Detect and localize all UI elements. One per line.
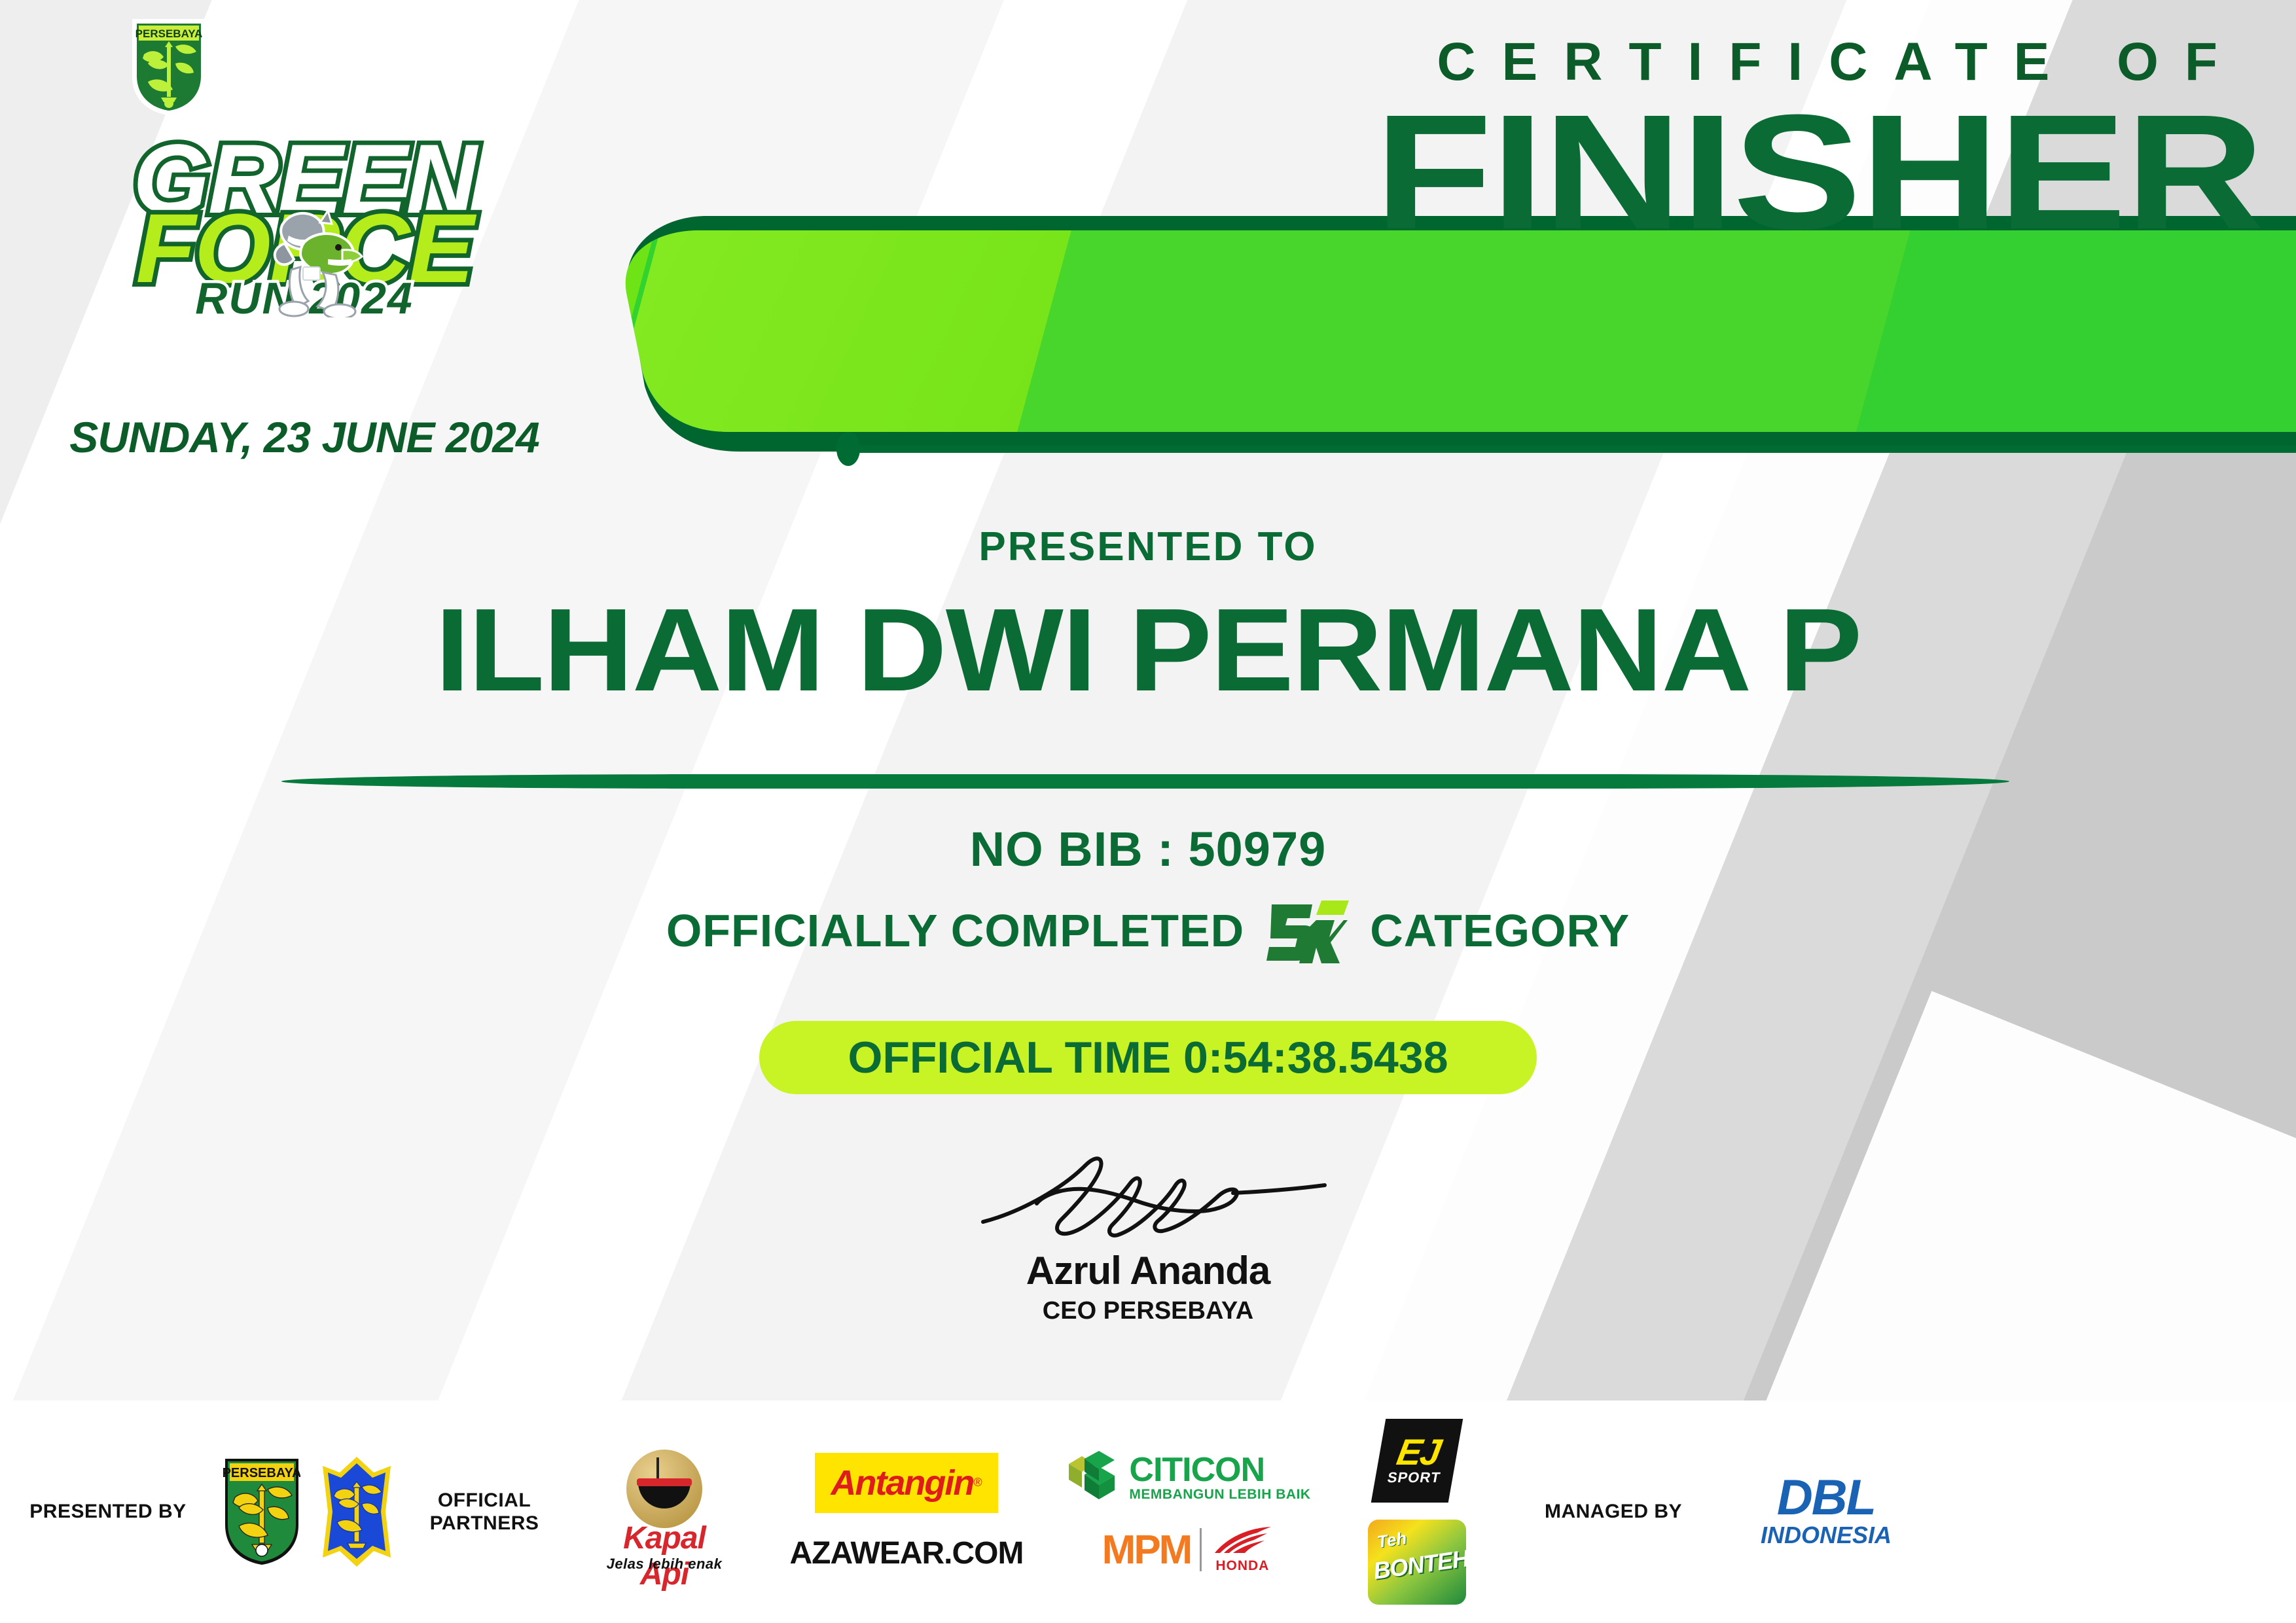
signature-block: Azrul Ananda CEO PERSEBAYA — [886, 1149, 1410, 1325]
sponsor-ej-sport-logo: EJ SPORT — [1371, 1419, 1463, 1503]
sponsor-persebaya-logo: PERSEBAYA — [216, 1457, 308, 1567]
sponsor-mpm-honda-logo: MPM HONDA — [1102, 1525, 1274, 1574]
official-partners-label: OFFICIAL PARTNERS — [406, 1489, 563, 1535]
sponsor-azawear-logo: AZAWEAR.COM — [790, 1535, 1024, 1571]
category-5k-icon — [1264, 897, 1350, 965]
official-time-badge: OFFICIAL TIME 0:54:38.5438 — [759, 1021, 1537, 1094]
event-date: SUNDAY, 23 JUNE 2024 — [39, 412, 569, 462]
bib-number-line: NO BIB : 50979 — [0, 821, 2296, 877]
sponsor-footer: PRESENTED BY PERSEBAYA — [0, 1400, 2296, 1623]
svg-text:PERSEBAYA: PERSEBAYA — [135, 27, 203, 40]
certificate-canvas: PERSEBAYA GREEN FORCE RUN 2024 — [0, 0, 2296, 1623]
sponsor-teh-bonteh-logo: Teh BONTEH — [1368, 1520, 1466, 1605]
signatory-name: Azrul Ananda — [886, 1248, 1410, 1293]
presented-by-label: PRESENTED BY — [0, 1500, 216, 1523]
signatory-role: CEO PERSEBAYA — [886, 1297, 1410, 1325]
completed-prefix-text: OFFICIALLY COMPLETED — [666, 904, 1244, 957]
citicon-cube-icon — [1065, 1450, 1120, 1506]
mpm-divider — [1200, 1528, 1202, 1571]
sponsor-antangin-azawear-group: Antangin® AZAWEAR.COM — [766, 1453, 1047, 1571]
completed-suffix-text: CATEGORY — [1370, 904, 1630, 957]
header-banner: PERSEBAYA GREEN FORCE RUN 2024 — [0, 0, 2296, 452]
finisher-title: FINISHER — [1374, 90, 2263, 254]
name-underline-divider — [281, 774, 2009, 789]
sponsor-dbl-indonesia-logo: DBL INDONESIA — [1721, 1474, 1931, 1549]
category-line: OFFICIALLY COMPLETED CATEGORY — [0, 897, 2296, 965]
sponsor-kapal-api-logo: Kapal Api Jelas lebih enak — [563, 1450, 766, 1574]
sponsor-surabaya-city-logo — [308, 1455, 406, 1568]
persebaya-shield-icon: PERSEBAYA — [130, 16, 208, 118]
sponsor-citicon-mpm-group: CITICON MEMBANGUN LEBIH BAIK MPM HONDA — [1047, 1450, 1329, 1574]
sponsor-ej-bonteh-group: EJ SPORT Teh BONTEH — [1329, 1419, 1505, 1605]
green-force-run-logo: GREEN FORCE RUN 2024 — [39, 134, 569, 298]
kapal-api-ship-icon — [626, 1450, 702, 1528]
honda-wing-icon — [1211, 1525, 1274, 1558]
official-time-text: OFFICIAL TIME 0:54:38.5438 — [848, 1032, 1448, 1083]
managed-by-label: MANAGED BY — [1505, 1500, 1721, 1523]
signature-image — [945, 1149, 1351, 1247]
sponsor-antangin-logo: Antangin® — [815, 1453, 998, 1513]
presented-to-label: PRESENTED TO — [0, 524, 2296, 570]
recipient-name: ILHAM DWI PERMANA P — [0, 582, 2296, 718]
sponsor-citicon-logo: CITICON MEMBANGUN LEBIH BAIK — [1065, 1450, 1310, 1506]
pin-line-decoration — [854, 446, 2296, 453]
svg-text:PERSEBAYA: PERSEBAYA — [223, 1466, 300, 1480]
crocodile-shark-mascot-icon — [265, 196, 376, 317]
